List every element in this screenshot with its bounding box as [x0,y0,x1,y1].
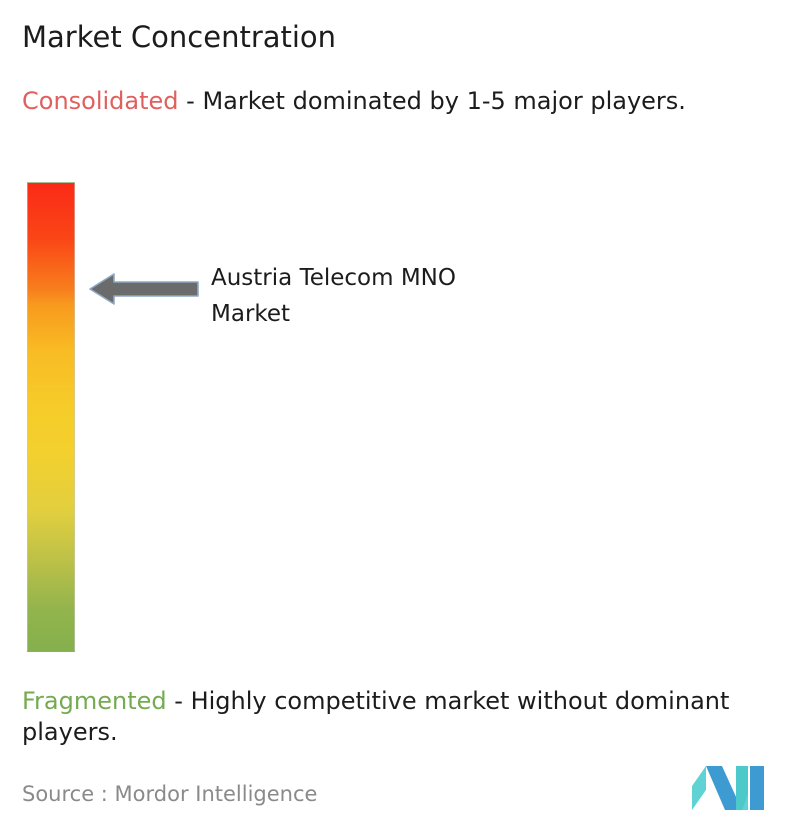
marker-label: Austria Telecom MNO Market [211,260,551,332]
concentration-gradient-bar [27,182,75,652]
legend-description-consolidated: Market dominated by 1-5 major players. [202,87,685,115]
mordor-intelligence-logo-icon [692,766,764,810]
legend-term-consolidated: Consolidated [22,87,179,115]
pointer-arrow-icon [88,270,200,308]
source-attribution: Source : Mordor Intelligence [22,782,317,806]
legend-separator-fragmented: - [167,687,191,715]
legend-term-fragmented: Fragmented [22,687,167,715]
legend-separator-consolidated: - [179,87,203,115]
marker-label-line-2: Market [211,296,551,332]
legend-fragmented: Fragmented - Highly competitive market w… [22,686,784,748]
legend-consolidated: Consolidated - Market dominated by 1-5 m… [22,86,784,117]
page-title: Market Concentration [22,20,336,54]
marker-label-line-1: Austria Telecom MNO [211,260,551,296]
